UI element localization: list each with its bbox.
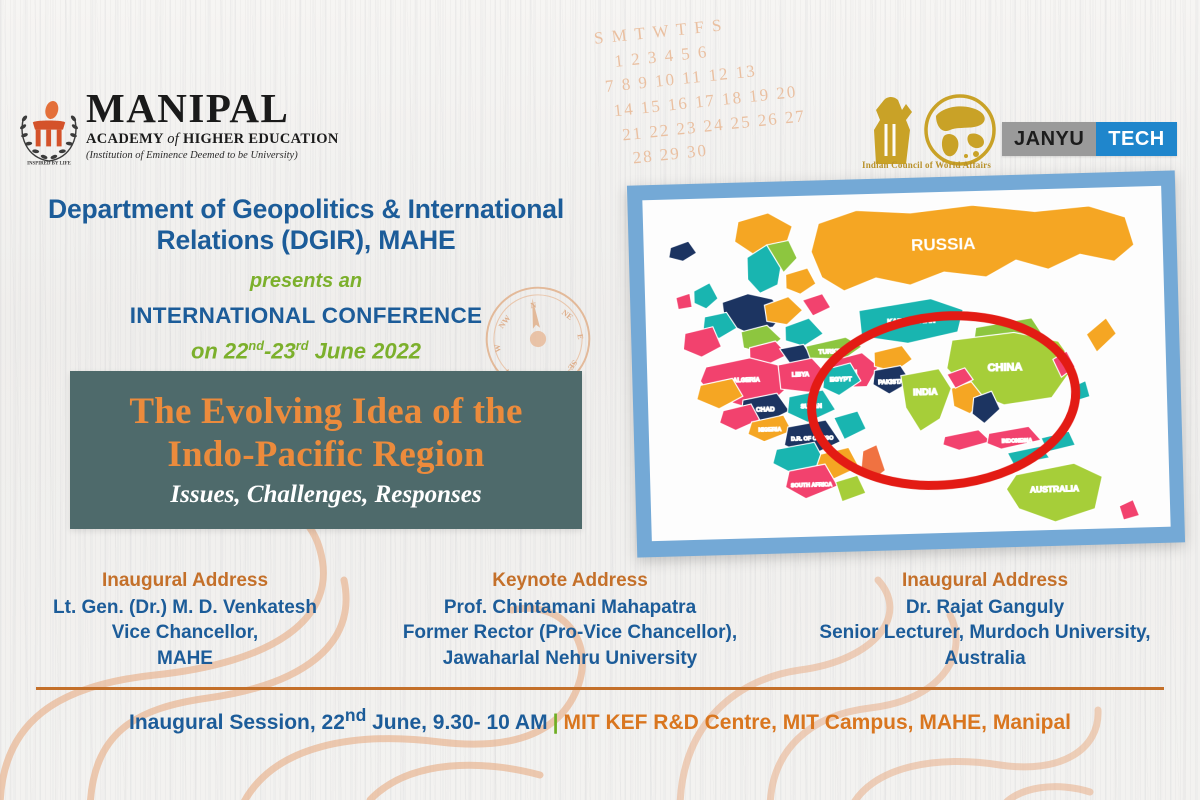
icwa-caption: Indian Council of World Affairs xyxy=(862,160,991,170)
speaker-2-name: Prof. Chintamani Mahapatra xyxy=(376,595,764,620)
icwa-logo: Indian Council of World Affairs xyxy=(862,86,1002,182)
title-line-2: Indo-Pacific Region xyxy=(167,434,484,476)
footer-venue: MIT KEF R&D Centre, MIT Campus, MAHE, Ma… xyxy=(563,711,1071,734)
manipal-subtitle: ACADEMY of HIGHER EDUCATION xyxy=(86,131,334,148)
map-label-libya: LIBYA xyxy=(792,372,810,379)
map-label-india: INDIA xyxy=(913,387,938,398)
janyu-label: JANYU xyxy=(1002,122,1096,156)
speaker-1-affiliation: MAHE xyxy=(6,646,364,671)
map-canvas: TURKEY KAZAKHSTAN CHINA IRAN xyxy=(642,186,1170,541)
speaker-block-1: Inaugural Address Lt. Gen. (Dr.) M. D. V… xyxy=(0,568,370,671)
speaker-1-role: Inaugural Address xyxy=(6,568,364,594)
date-ordinal-2: rd xyxy=(296,338,309,353)
world-map-svg: TURKEY KAZAKHSTAN CHINA IRAN xyxy=(642,186,1170,541)
speaker-3-role: Inaugural Address xyxy=(776,568,1194,594)
calendar-watermark: S M T W T F S 1 2 3 4 5 6 7 8 9 10 11 12… xyxy=(589,5,813,174)
event-type-text: INTERNATIONAL CONFERENCE xyxy=(20,303,592,329)
manipal-subtitle-of: of xyxy=(167,131,179,147)
speaker-1-designation: Vice Chancellor, xyxy=(6,620,364,645)
map-label-egypt: EGYPT xyxy=(830,376,852,384)
map-frame: TURKEY KAZAKHSTAN CHINA IRAN xyxy=(627,170,1185,557)
department-line-1: Department of Geopolitics & Internationa… xyxy=(20,194,592,225)
speaker-block-3: Inaugural Address Dr. Rajat Ganguly Seni… xyxy=(770,568,1200,671)
conference-poster: S M T W T F S 1 2 3 4 5 6 7 8 9 10 11 12… xyxy=(0,0,1200,800)
department-heading: Department of Geopolitics & Internationa… xyxy=(20,194,592,257)
manipal-subtitle-a: ACADEMY xyxy=(86,131,167,147)
map-label-south-africa: SOUTH AFRICA xyxy=(791,482,833,489)
conference-date: on 22nd-23rd June 2022 xyxy=(20,338,592,364)
date-mid: -23 xyxy=(264,338,296,363)
title-line-1: The Evolving Idea of the xyxy=(129,391,522,433)
manipal-logo: INSPIRED BY LIFE MANIPAL ACADEMY of HIGH… xyxy=(14,88,334,170)
session-prefix: Inaugural Session, 22 xyxy=(129,711,345,734)
manipal-logo-text: MANIPAL ACADEMY of HIGHER EDUCATION (Ins… xyxy=(86,88,334,161)
speaker-1-name: Lt. Gen. (Dr.) M. D. Venkatesh xyxy=(6,595,364,620)
map-label-china: CHINA xyxy=(987,361,1022,374)
calendar-week-5: 28 29 30 xyxy=(632,128,814,171)
speaker-block-2: Keynote Address Prof. Chintamani Mahapat… xyxy=(370,568,770,671)
tech-label: TECH xyxy=(1096,122,1176,156)
date-prefix: on 22 xyxy=(191,338,248,363)
calendar-week-3: 14 15 16 17 18 19 20 xyxy=(612,79,808,124)
world-map-graphic: TURKEY KAZAKHSTAN CHINA IRAN xyxy=(627,170,1185,557)
speaker-3-affiliation: Australia xyxy=(776,646,1194,671)
footer-divider xyxy=(36,687,1164,690)
janyu-tech-logo: JANYU TECH xyxy=(1002,122,1177,156)
session-ordinal: nd xyxy=(345,705,366,725)
speaker-2-affiliation: Jawaharlal Nehru University xyxy=(376,646,764,671)
date-ordinal-1: nd xyxy=(248,338,264,353)
conference-title-panel: The Evolving Idea of the Indo-Pacific Re… xyxy=(70,371,582,529)
presents-text: presents an xyxy=(20,270,592,293)
manipal-title: MANIPAL xyxy=(86,88,334,129)
map-label-algeria: ALGERIA xyxy=(733,378,761,385)
date-suffix: June 2022 xyxy=(309,338,422,363)
map-label-australia: AUSTRALIA xyxy=(1030,483,1079,494)
speakers-section: Inaugural Address Lt. Gen. (Dr.) M. D. V… xyxy=(0,568,1200,671)
calendar-week-2: 7 8 9 10 11 12 13 xyxy=(604,54,805,99)
footer-session-info: Inaugural Session, 22nd June, 9.30- 10 A… xyxy=(0,705,1200,735)
map-label-chad: CHAD xyxy=(756,406,775,414)
footer-separator: | xyxy=(548,711,564,734)
department-line-2: Relations (DGIR), MAHE xyxy=(20,225,592,256)
calendar-header: S M T W T F S xyxy=(593,5,800,51)
session-suffix: June, 9.30- 10 AM xyxy=(366,711,547,734)
calendar-week-1: 1 2 3 4 5 6 xyxy=(613,30,803,74)
crest-motto-text: INSPIRED BY LIFE xyxy=(27,162,72,166)
manipal-crest-icon: INSPIRED BY LIFE xyxy=(14,96,84,166)
map-label-russia: RUSSIA xyxy=(911,234,976,255)
manipal-subtitle-b: HIGHER EDUCATION xyxy=(179,131,339,147)
calendar-week-4: 21 22 23 24 25 26 27 xyxy=(621,103,811,147)
map-label-nigeria: NIGERIA xyxy=(758,427,781,434)
manipal-tagline: (Institution of Eminence Deemed to be Un… xyxy=(86,150,334,161)
speaker-2-role: Keynote Address xyxy=(376,568,764,594)
map-label-indonesia: INDONESIA xyxy=(1002,438,1033,445)
speaker-3-name: Dr. Rajat Ganguly xyxy=(776,595,1194,620)
title-subtitle: Issues, Challenges, Responses xyxy=(170,481,481,509)
speaker-2-designation: Former Rector (Pro-Vice Chancellor), xyxy=(376,620,764,645)
speaker-3-designation: Senior Lecturer, Murdoch University, xyxy=(776,620,1194,645)
